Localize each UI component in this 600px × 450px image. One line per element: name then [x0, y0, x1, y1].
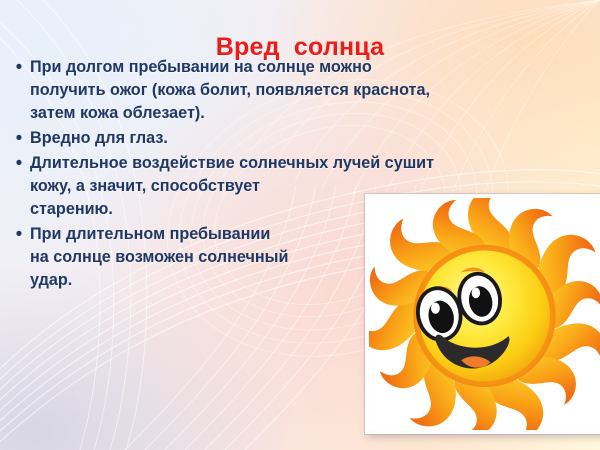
bullet-point-icon: • — [8, 127, 30, 150]
bullet-text: Вредно для глаз. — [30, 127, 588, 150]
slide-canvas: Вред солнца • При долгом пребывании на с… — [0, 0, 600, 450]
bullet-text: При долгом пребывании на солнце можно по… — [30, 56, 588, 125]
bullet-point-icon: • — [8, 152, 30, 175]
sun-image-frame — [365, 194, 600, 434]
list-item: • При долгом пребывании на солнце можно … — [8, 56, 588, 125]
smiling-sun-icon — [369, 198, 600, 430]
bullet-point-icon: • — [8, 56, 30, 79]
bullet-point-icon: • — [8, 223, 30, 246]
list-item: • Вредно для глаз. — [8, 127, 588, 150]
